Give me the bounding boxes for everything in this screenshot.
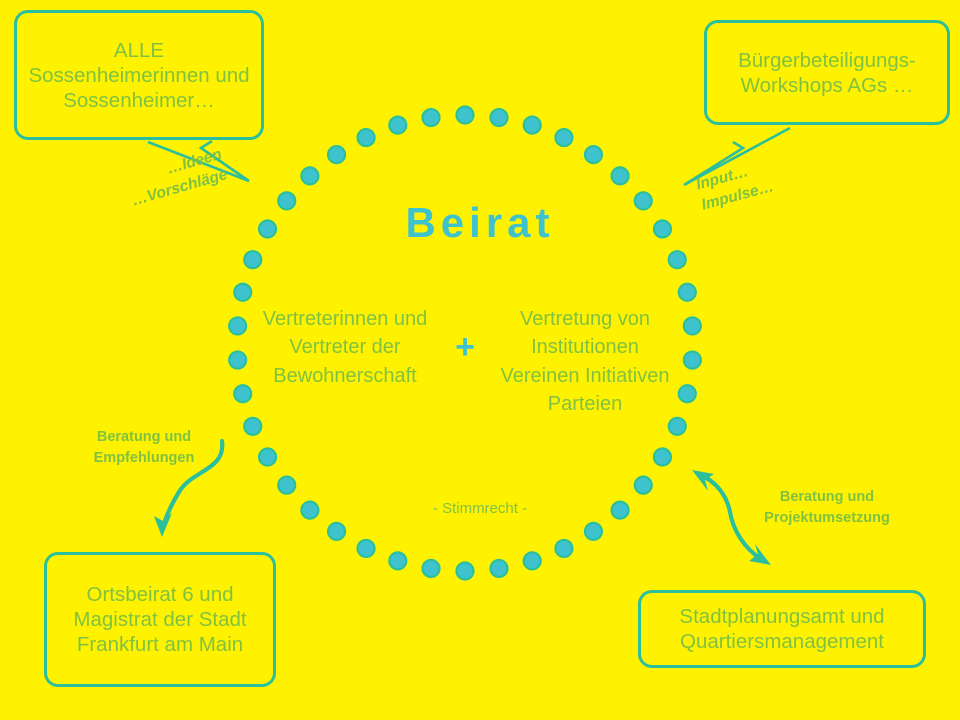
composition-residents-column: Vertreterinnen und Vertreter der Bewohne…	[255, 305, 435, 419]
circle-dot	[244, 418, 261, 435]
circle-dot	[244, 251, 261, 268]
circle-dot	[679, 385, 696, 402]
circle-dot	[389, 117, 406, 134]
circle-dot	[229, 317, 246, 334]
circle-dot	[490, 560, 507, 577]
circle-dot	[457, 107, 474, 124]
box-stadtplanung-label: Stadtplanungsamt und Quartiersmanagement	[641, 604, 923, 654]
box-ortsbeirat[interactable]: Ortsbeirat 6 und Magistrat der Stadt Fra…	[44, 552, 276, 687]
bubble-residents-label: ALLE Sossenheimerinnen und Sossenheimer…	[17, 38, 261, 113]
bubble-residents[interactable]: ALLE Sossenheimerinnen und Sossenheimer…	[14, 10, 264, 140]
plus-icon: +	[435, 305, 495, 419]
circle-dot	[684, 352, 701, 369]
circle-dot	[555, 540, 572, 557]
circle-dot	[389, 552, 406, 569]
circle-dot	[555, 129, 572, 146]
circle-dot	[524, 552, 541, 569]
beirat-composition: Vertreterinnen und Vertreter der Bewohne…	[255, 305, 675, 419]
circle-dot	[669, 251, 686, 268]
circle-dot	[278, 477, 295, 494]
box-stadtplanung[interactable]: Stadtplanungsamt und Quartiersmanagement	[638, 590, 926, 668]
circle-dot	[679, 284, 696, 301]
circle-dot	[635, 477, 652, 494]
circle-dot	[423, 560, 440, 577]
box-ortsbeirat-label: Ortsbeirat 6 und Magistrat der Stadt Fra…	[47, 582, 273, 657]
circle-dot	[654, 449, 671, 466]
circle-dot	[301, 167, 318, 184]
circle-dot	[612, 167, 629, 184]
circle-dot	[358, 129, 375, 146]
circle-dot	[234, 284, 251, 301]
bubble-workshops-label: Bürgerbeteiligungs- Workshops AGs …	[707, 48, 947, 98]
circle-dot	[358, 540, 375, 557]
composition-institutions-column: Vertretung von Institutionen Vereinen In…	[495, 305, 675, 419]
circle-dot	[423, 109, 440, 126]
circle-dot	[259, 449, 276, 466]
bubble-workshops[interactable]: Bürgerbeteiligungs- Workshops AGs …	[704, 20, 950, 125]
circle-dot	[328, 523, 345, 540]
circle-dot	[669, 418, 686, 435]
caption-beratung-projektumsetzung: Beratung und Projektumsetzung	[744, 487, 910, 529]
circle-dot	[328, 146, 345, 163]
circle-dot	[684, 317, 701, 334]
caption-beratung-empfehlungen: Beratung und Empfehlungen	[74, 427, 214, 469]
circle-dot	[585, 523, 602, 540]
circle-dot	[234, 385, 251, 402]
circle-dot	[524, 117, 541, 134]
circle-dot	[585, 146, 602, 163]
circle-dot	[457, 563, 474, 580]
diagram-canvas: ALLE Sossenheimerinnen und Sossenheimer……	[0, 0, 960, 720]
circle-dot	[229, 352, 246, 369]
circle-dot	[490, 109, 507, 126]
